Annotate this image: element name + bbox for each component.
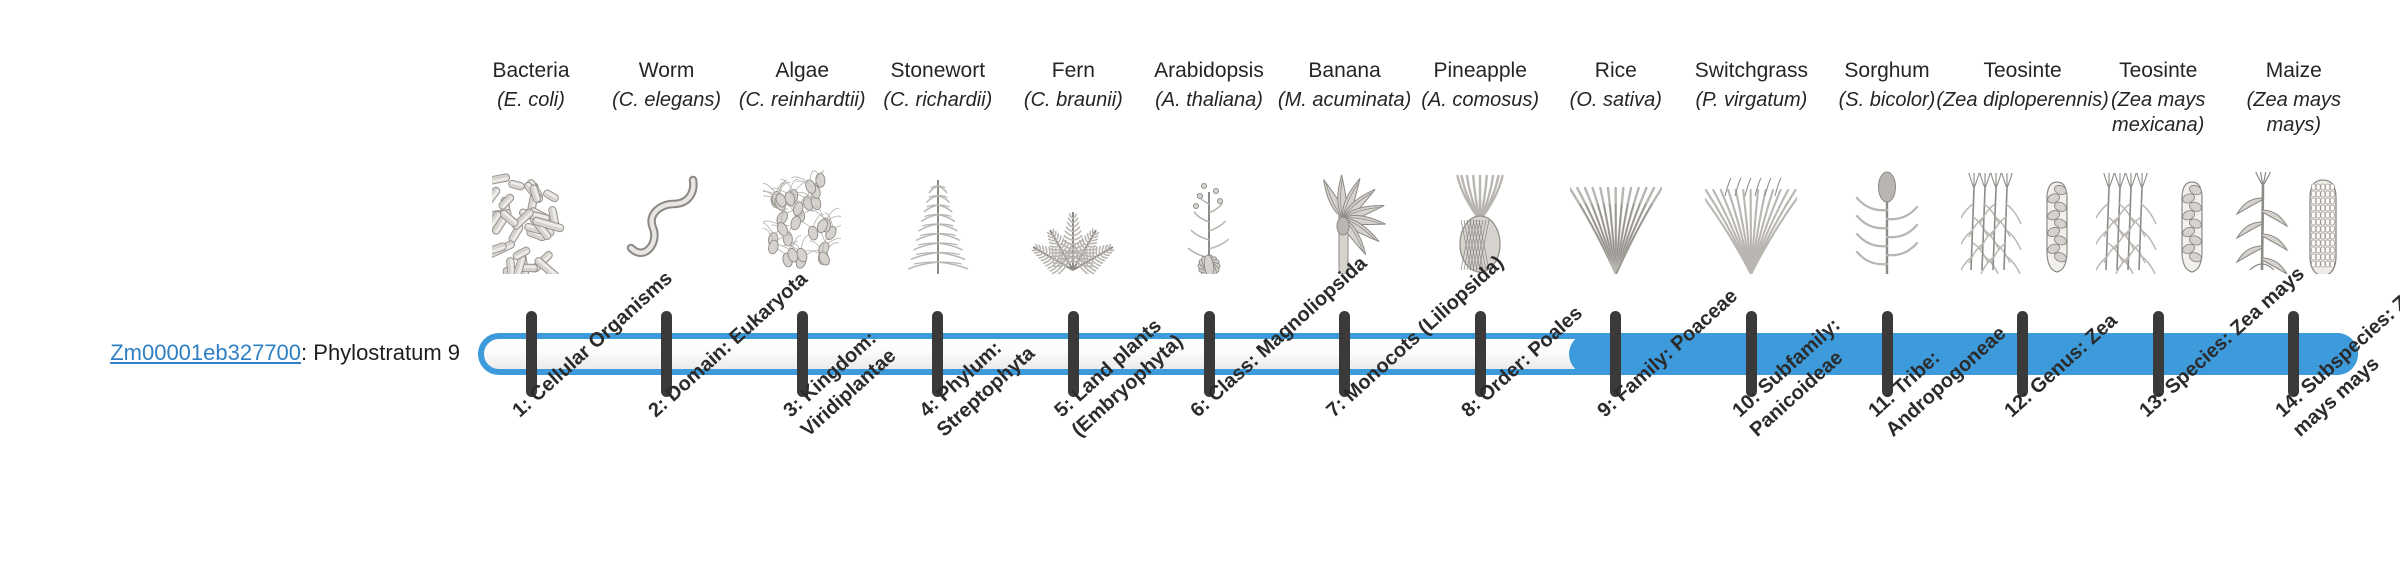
species-common-name: Worm [599,58,735,84]
species-common-name: Stonewort [870,58,1006,84]
species-common-name: Switchgrass [1683,58,1819,84]
species-scientific-name: (Zea mays mays) [2226,88,2362,138]
species-scientific-name: (C. elegans) [599,88,735,113]
species-common-name: Pineapple [1412,58,1548,84]
species-scientific-name: (A. thaliana) [1141,88,1277,113]
species-scientific-name: (M. acuminata) [1277,88,1413,113]
rank-number: 13: [2136,386,2172,422]
species-common-name: Fern [1005,58,1141,84]
species-scientific-name: (C. richardii) [870,88,1006,113]
species-common-name: Rice [1548,58,1684,84]
gene-id-link[interactable]: Zm00001eb327700 [110,340,301,365]
species-scientific-name: (Zea mays mexicana) [2070,88,2246,138]
rank-number: 12: [2000,386,2036,422]
species-scientific-name: (C. braunii) [1005,88,1141,113]
phylostratum-value-label: Phylostratum 9 [313,340,460,365]
phylostratum-timeline: Zm00001eb327700: Phylostratum 9 Bacteria… [0,0,2400,580]
species-scientific-name: (A. comosus) [1412,88,1548,113]
species-scientific-name: (C. reinhardtii) [734,88,870,113]
species-common-name: Arabidopsis [1141,58,1277,84]
species-scientific-name: (P. virgatum) [1683,88,1819,113]
species-common-name: Teosinte [2070,58,2246,84]
species-common-name: Algae [734,58,870,84]
species-common-name: Banana [1277,58,1413,84]
bacteria-illustration [463,170,599,290]
gene-phylostratum-label: Zm00001eb327700: Phylostratum 9 [30,338,460,368]
species-common-name: Maize [2226,58,2362,84]
species-scientific-name: (E. coli) [463,88,599,113]
species-common-name: Bacteria [463,58,599,84]
gene-label-separator: : [301,340,313,365]
species-scientific-name: (O. sativa) [1548,88,1684,113]
